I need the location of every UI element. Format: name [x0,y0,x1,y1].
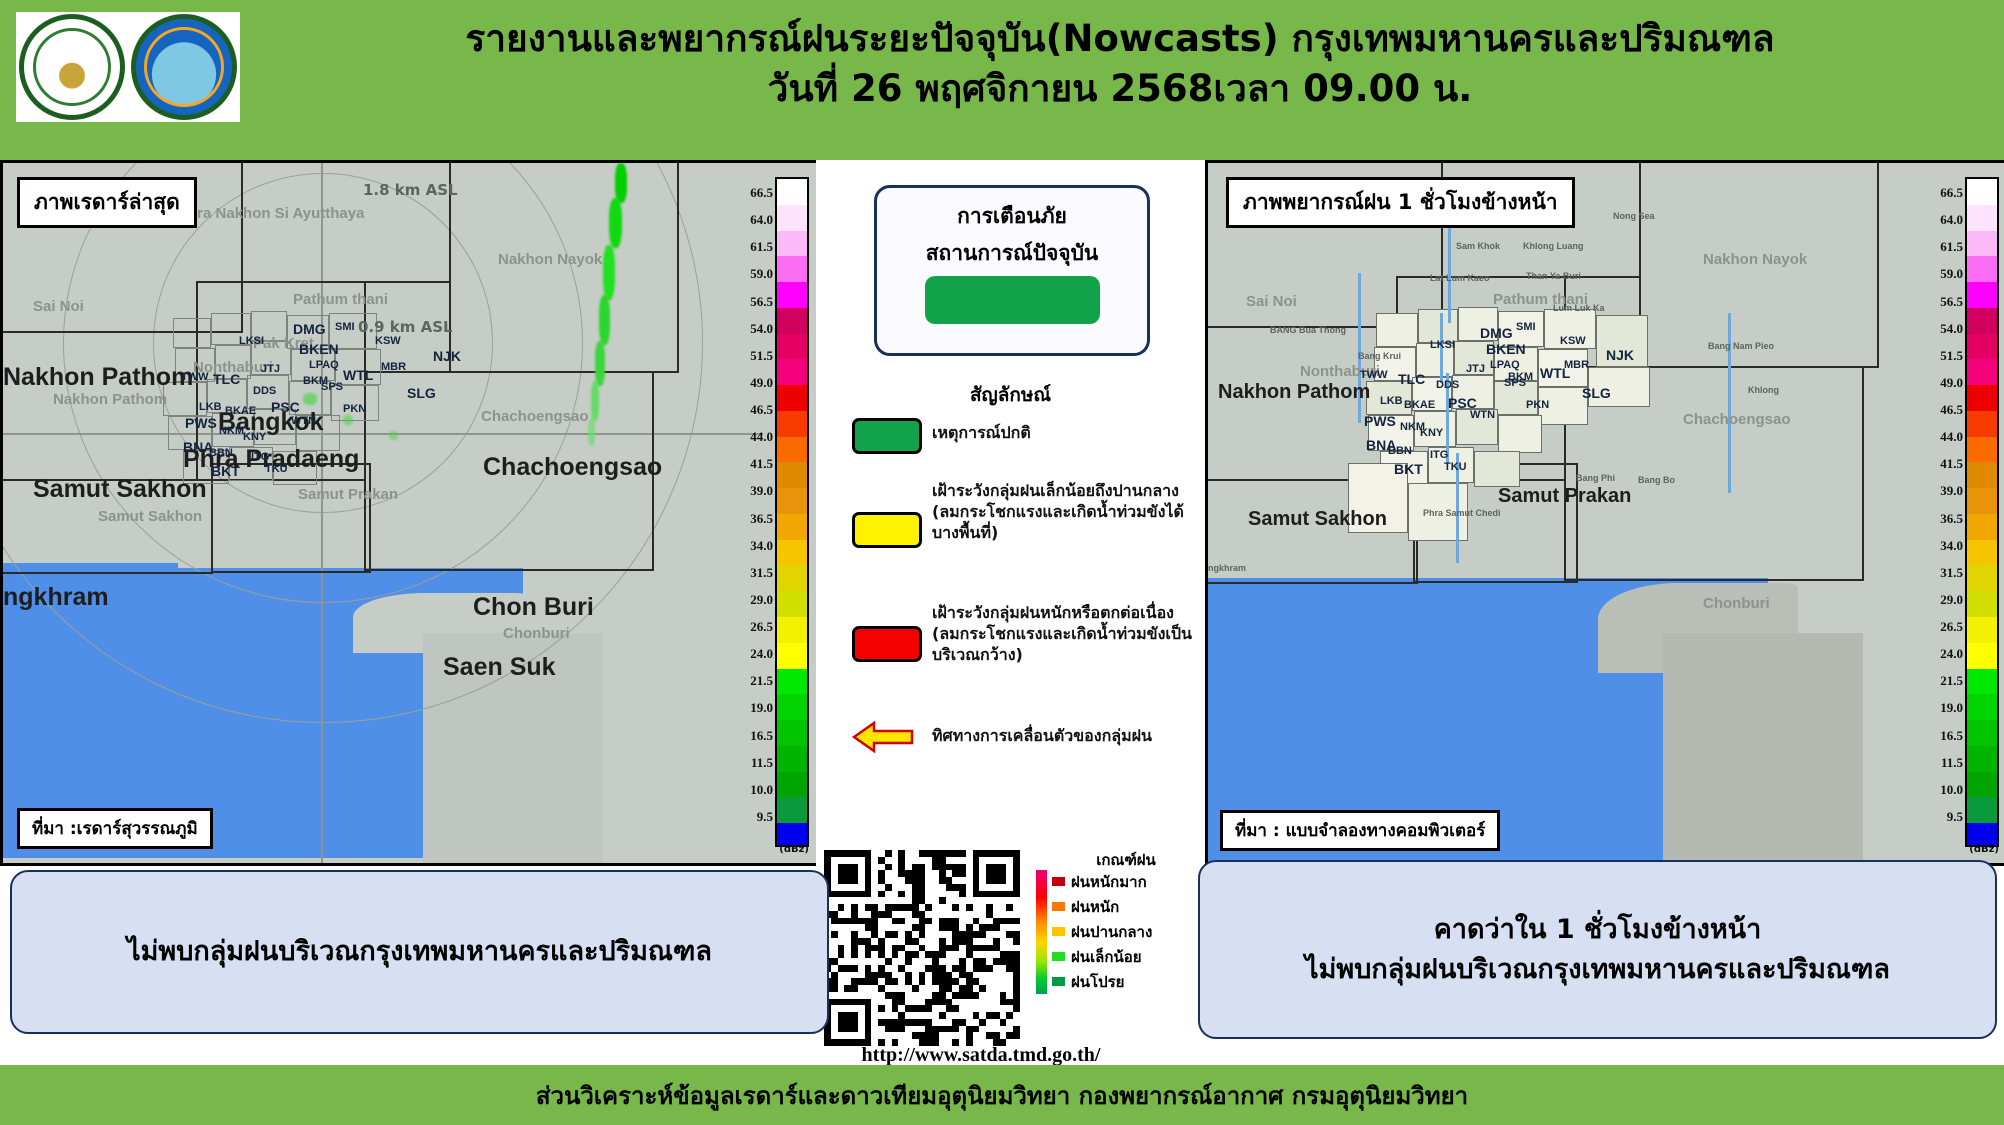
qr-module [986,911,993,918]
qr-module [885,992,892,999]
qr-module [1000,877,1007,884]
qr-module [892,978,899,985]
qr-module [892,972,899,979]
qr-module [892,999,899,1006]
qr-module [844,972,851,979]
qr-module [1013,951,1020,958]
colorbar-band [1967,617,1997,643]
qr-module [979,985,986,992]
qr-module [973,884,980,891]
qr-module [905,1019,912,1026]
qr-module [838,870,845,877]
district-code-label: LKB [199,401,222,413]
qr-module [871,891,878,898]
qr-module [1000,999,1007,1006]
chonburi-land [1663,633,1863,863]
qr-module [838,958,845,965]
qr-module [1013,864,1020,871]
qr-module [919,951,926,958]
map-place-label: Bang Nam Pieo [1708,341,1774,351]
district-code-label: PWS [1364,413,1396,429]
qr-module [878,884,885,891]
district-code-label: LKSI [239,335,264,347]
qr-module [925,945,932,952]
qr-module [885,1026,892,1033]
qr-module [959,877,966,884]
qr-module [979,978,986,985]
qr-module [925,1019,932,1026]
qr-module [865,972,872,979]
qr-module [892,938,899,945]
qr-module [925,850,932,857]
qr-module [844,870,851,877]
qr-module [871,864,878,871]
alert-title-line-1: การเตือนภัย [877,200,1147,233]
qr-module [905,938,912,945]
qr-module [898,877,905,884]
qr-module [831,864,838,871]
qr-module [838,850,845,857]
qr-url-label[interactable]: http://www.satda.tmd.go.th/ [816,1044,1146,1067]
colorbar-band [777,385,807,411]
map-place-label: Samut Prakan [298,486,398,503]
qr-module [912,1005,919,1012]
radar-echo [303,393,317,405]
map-place-label: Nakhon Nayok [1703,251,1807,268]
colorbar-tick: 49.0 [750,375,773,391]
qr-module [966,972,973,979]
qr-code[interactable] [824,850,1024,1050]
qr-module [878,924,885,931]
qr-module [946,864,953,871]
qr-module [898,864,905,871]
qr-module [1006,891,1013,898]
qr-module [878,958,885,965]
qr-module [993,870,1000,877]
qr-module [831,870,838,877]
qr-module [979,864,986,871]
qr-module [858,978,865,985]
qr-module [919,877,926,884]
qr-module [952,972,959,979]
qr-module [973,999,980,1006]
qr-module [986,992,993,999]
qr-module [844,1012,851,1019]
qr-module [952,884,959,891]
qr-module [932,1019,939,1026]
qr-module [925,857,932,864]
qr-module [892,931,899,938]
qr-module [878,931,885,938]
qr-module [838,965,845,972]
qr-module [865,945,872,952]
qr-module [952,897,959,904]
map-place-label: BANG Bua Thong [1270,325,1346,335]
qr-module [946,870,953,877]
qr-module [919,985,926,992]
qr-module [912,992,919,999]
qr-module [932,938,939,945]
qr-module [1006,864,1013,871]
qr-module [858,938,865,945]
qr-module [919,1026,926,1033]
qr-module [892,870,899,877]
qr-module [892,877,899,884]
qr-module [844,891,851,898]
qr-module [1013,918,1020,925]
qr-module [858,972,865,979]
qr-module [1013,999,1020,1006]
qr-module [844,938,851,945]
qr-module [946,1032,953,1039]
qr-module [959,857,966,864]
qr-module [919,891,926,898]
qr-module [844,1019,851,1026]
qr-module [966,1026,973,1033]
colorbar-band [777,282,807,308]
qr-module [1013,958,1020,965]
legend-label-watch-light: เฝ้าระวังกลุ่มฝนเล็กน้อยถึงปานกลาง (ลมกร… [932,480,1197,543]
qr-module [905,1032,912,1039]
qr-module [939,992,946,999]
qr-module [878,1019,885,1026]
qr-module [946,911,953,918]
qr-module [892,985,899,992]
map-place-label: Chachoengsao [1683,411,1791,428]
qr-module [959,870,966,877]
legend-swatch-red [852,626,922,662]
qr-module [898,992,905,999]
qr-module [1013,985,1020,992]
qr-module [952,945,959,952]
district-code-label: LPAQ [309,359,339,371]
legend-swatch-green [852,418,922,454]
qr-module [871,1019,878,1026]
qr-module [973,877,980,884]
qr-module [919,978,926,985]
qr-module [885,1005,892,1012]
qr-module [952,1032,959,1039]
qr-module [939,958,946,965]
qr-module [986,1026,993,1033]
qr-module [858,857,865,864]
qr-module [966,911,973,918]
qr-module [865,897,872,904]
colorbar-tick: 16.5 [1940,728,1963,744]
qr-module [885,999,892,1006]
qr-module [993,864,1000,871]
qr-module [966,965,973,972]
qr-module [905,985,912,992]
qr-module [979,918,986,925]
qr-module [946,938,953,945]
colorbar-band [1967,256,1997,282]
colorbar-unit-right: (dBz) [1969,844,1999,855]
qr-module [979,924,986,931]
rain-criteria-swatch [1052,927,1065,936]
colorbar-band [777,334,807,360]
qr-module [946,850,953,857]
qr-module [871,1026,878,1033]
qr-module [993,931,1000,938]
qr-module [898,958,905,965]
qr-module [865,992,872,999]
qr-module [966,850,973,857]
qr-module [919,850,926,857]
panel-source-radar: ที่มา :เรดาร์สุวรรณภูมิ [17,808,213,849]
qr-module [973,897,980,904]
qr-module [905,1012,912,1019]
forecast-status-message: คาดว่าใน 1 ชั่วโมงข้างหน้า ไม่พบกลุ่มฝนบ… [1198,860,1997,1039]
map-place-label: Chachoengsao [483,453,662,482]
colorbar-band [1967,231,1997,257]
qr-module [966,992,973,999]
qr-module [1013,931,1020,938]
qr-module [986,945,993,952]
qr-module [892,945,899,952]
qr-module [939,864,946,871]
qr-module [905,972,912,979]
panel-tag-forecast: ภาพพยากรณ์ฝน 1 ชั่วโมงข้างหน้า [1226,177,1575,228]
panel-source-forecast: ที่มา : แบบจำลองทางคอมพิวเตอร์ [1220,810,1500,851]
qr-module [831,924,838,931]
qr-module [858,877,865,884]
qr-module [858,924,865,931]
title-line-1: รายงานและพยากรณ์ฝนระยะปัจจุบัน(Nowcasts)… [250,14,1990,64]
qr-module [952,1005,959,1012]
qr-module [858,918,865,925]
qr-module [871,938,878,945]
message-line: ไม่พบกลุ่มฝนบริเวณกรุงเทพมหานครและปริมณฑ… [1305,950,1890,989]
qr-module [844,965,851,972]
district-code-label: MBR [381,361,406,373]
qr-module [865,877,872,884]
qr-module [885,870,892,877]
qr-module [959,972,966,979]
qr-module [959,945,966,952]
qr-module [919,965,926,972]
qr-module [993,857,1000,864]
qr-module [851,924,858,931]
qr-module [973,1026,980,1033]
qr-module [946,945,953,952]
qr-module [986,958,993,965]
qr-module [932,972,939,979]
colorbar-band [1967,823,1997,845]
page-footer: ส่วนวิเคราะห์ข้อมูลเรดาร์และดาวเทียมอุตุ… [0,1065,2004,1125]
qr-module [1006,999,1013,1006]
qr-module [871,897,878,904]
qr-module [905,884,912,891]
qr-module [952,992,959,999]
qr-module [932,978,939,985]
qr-module [959,904,966,911]
qr-module [858,1026,865,1033]
qr-module [979,965,986,972]
qr-module [898,938,905,945]
rain-criteria-swatch [1052,977,1065,986]
qr-module [966,870,973,877]
district-code-label: BKEN [1486,341,1526,357]
qr-module [979,891,986,898]
qr-module [898,911,905,918]
tmd-seal-icon [131,14,237,120]
map-place-label: Phra Nakhon Si Ayutthaya [178,205,364,222]
page-title: รายงานและพยากรณ์ฝนระยะปัจจุบัน(Nowcasts)… [250,14,1990,114]
map-place-label: Sam Khok [1456,241,1500,251]
map-place-label: Samut Sakhon [33,475,207,504]
radar-latest-panel[interactable]: 1.8 km ASL 0.9 km ASL Suphan BuriPhra Na… [0,160,822,866]
qr-module [939,1019,946,1026]
qr-module [851,985,858,992]
arrow-left-icon [852,720,914,754]
qr-module [932,1032,939,1039]
colorbar-tick: 41.5 [1940,456,1963,472]
qr-module [885,972,892,979]
colorbar-band [1967,797,1997,823]
district-code-label: BKT [1394,461,1423,477]
qr-module [898,897,905,904]
qr-module [905,978,912,985]
qr-module [1006,992,1013,999]
qr-module [979,857,986,864]
district-code-label: JTJ [261,363,280,375]
qr-module [973,985,980,992]
qr-module [892,924,899,931]
qr-module [973,864,980,871]
qr-module [979,992,986,999]
qr-module [851,951,858,958]
qr-module [1000,985,1007,992]
qr-module [952,924,959,931]
rain-forecast-panel[interactable]: Suphan BuriPhra Nakhon Si AyutthayaNong … [1205,160,2004,866]
qr-module [885,850,892,857]
qr-module [952,904,959,911]
qr-module [831,904,838,911]
qr-module [946,897,953,904]
qr-module [966,857,973,864]
qr-module [946,884,953,891]
qr-module [838,931,845,938]
qr-module [932,870,939,877]
qr-module [912,904,919,911]
district-code-label: SLG [1582,385,1611,401]
qr-module [993,945,1000,952]
qr-module [824,1032,831,1039]
qr-module [858,897,865,904]
qr-module [885,891,892,898]
qr-module [925,1026,932,1033]
qr-module [1000,870,1007,877]
qr-module [973,958,980,965]
qr-module [952,985,959,992]
qr-module [865,911,872,918]
qr-module [831,857,838,864]
qr-module [871,958,878,965]
qr-module [858,965,865,972]
qr-module [993,911,1000,918]
district-code-label: PKN [343,403,366,415]
qr-module [966,904,973,911]
qr-module [871,884,878,891]
qr-module [1013,891,1020,898]
qr-module [865,985,872,992]
qr-module [959,918,966,925]
qr-module [851,870,858,877]
colorbar-band [1967,694,1997,720]
qr-module [851,945,858,952]
qr-module [865,938,872,945]
colorbar-band [777,617,807,643]
colorbar-tick: 54.0 [1940,321,1963,337]
qr-module [871,978,878,985]
qr-module [851,1012,858,1019]
qr-module [979,897,986,904]
qr-module [986,1019,993,1026]
qr-module [905,864,912,871]
qr-module [871,965,878,972]
map-place-label: Chachoengsao [481,408,589,425]
qr-module [939,897,946,904]
qr-module [1006,850,1013,857]
qr-module [925,978,932,985]
colorbar-band [777,746,807,772]
qr-module [905,897,912,904]
qr-module [851,911,858,918]
qr-module [844,985,851,992]
qr-module [966,864,973,871]
qr-module [892,992,899,999]
qr-module [912,999,919,1006]
qr-module [838,877,845,884]
qr-module [973,992,980,999]
colorbar-band [777,772,807,798]
map-place-label: Samut Prakan [1498,485,1631,508]
colorbar-band [1967,205,1997,231]
district-code-label: WTN [291,415,316,427]
qr-module [986,924,993,931]
qr-module [831,1019,838,1026]
map-place-label: ngkhram [1208,563,1246,573]
qr-module [838,978,845,985]
rain-criteria-swatch [1052,902,1065,911]
qr-module [844,897,851,904]
qr-module [966,985,973,992]
qr-module [973,972,980,979]
qr-module [932,965,939,972]
qr-module [993,951,1000,958]
qr-module [831,972,838,979]
colorbar-tick: 24.0 [1940,646,1963,662]
qr-module [838,924,845,931]
qr-module [979,999,986,1006]
colorbar-tick: 16.5 [750,728,773,744]
qr-module [851,857,858,864]
reflectivity-colorbar-left [775,177,809,847]
qr-module [925,1032,932,1039]
qr-module [973,945,980,952]
qr-module [986,1032,993,1039]
colorbar-tick: 9.5 [1947,809,1963,825]
qr-module [905,924,912,931]
qr-module [986,864,993,871]
qr-module [946,951,953,958]
qr-module [959,1005,966,1012]
alert-status-chip[interactable] [925,276,1100,324]
qr-module [831,897,838,904]
qr-module [871,931,878,938]
qr-module [871,904,878,911]
